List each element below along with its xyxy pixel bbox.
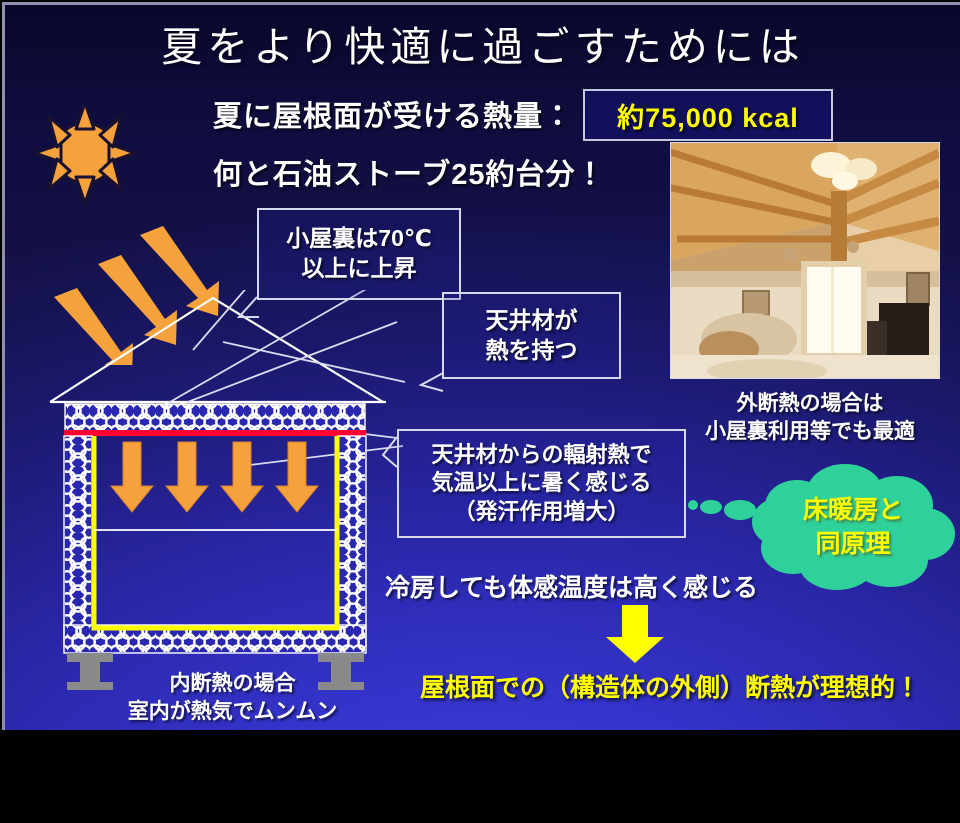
slide-canvas: 夏をより快適に過ごすためには 夏に屋根面が受ける熱量： 約75,000 kcal… — [0, 0, 960, 823]
kcal-value-box: 約75,000 kcal — [583, 89, 833, 141]
house-caption-line-1: 内断熱の場合 — [85, 670, 380, 698]
presentation-slide: 夏をより快適に過ごすためには 夏に屋根面が受ける熱量： 約75,000 kcal… — [2, 2, 960, 730]
photo-caption: 外断熱の場合は 小屋裏利用等でも最適 — [665, 390, 955, 447]
house-caption: 内断熱の場合 室内が熱気でムンムン — [85, 670, 380, 727]
thought-cloud-text: 床暖房と 同原理 — [767, 494, 939, 562]
kcal-value: 約75,000 kcal — [617, 96, 799, 135]
photo-caption-line-2: 小屋裏利用等でも最適 — [665, 418, 955, 446]
page-title: 夏をより快適に過ごすためには — [5, 13, 960, 73]
wall-insulation-left — [65, 436, 91, 646]
heat-amount-label: 夏に屋根面が受ける熱量： — [213, 93, 573, 135]
conclusion-text: 屋根面での（構造体の外側）断熱が理想的！ — [420, 668, 960, 704]
cooling-feeling-text: 冷房しても体感温度は高く感じる — [385, 568, 805, 604]
yellow-down-arrow-icon — [600, 605, 670, 663]
photo-caption-line-1: 外断熱の場合は — [665, 390, 955, 418]
cloud-line-1: 床暖房と — [767, 494, 939, 528]
house-caption-line-2: 室内が熱気でムンムン — [85, 698, 380, 726]
stove-equivalent-label: 何と石油ストーブ25約台分！ — [213, 151, 606, 193]
sun-icon — [35, 105, 135, 203]
cloud-line-2: 同原理 — [767, 528, 939, 562]
callout-tail-lines — [205, 205, 685, 545]
attic-photo-illustration — [671, 143, 939, 378]
attic-room-photo — [670, 142, 940, 379]
